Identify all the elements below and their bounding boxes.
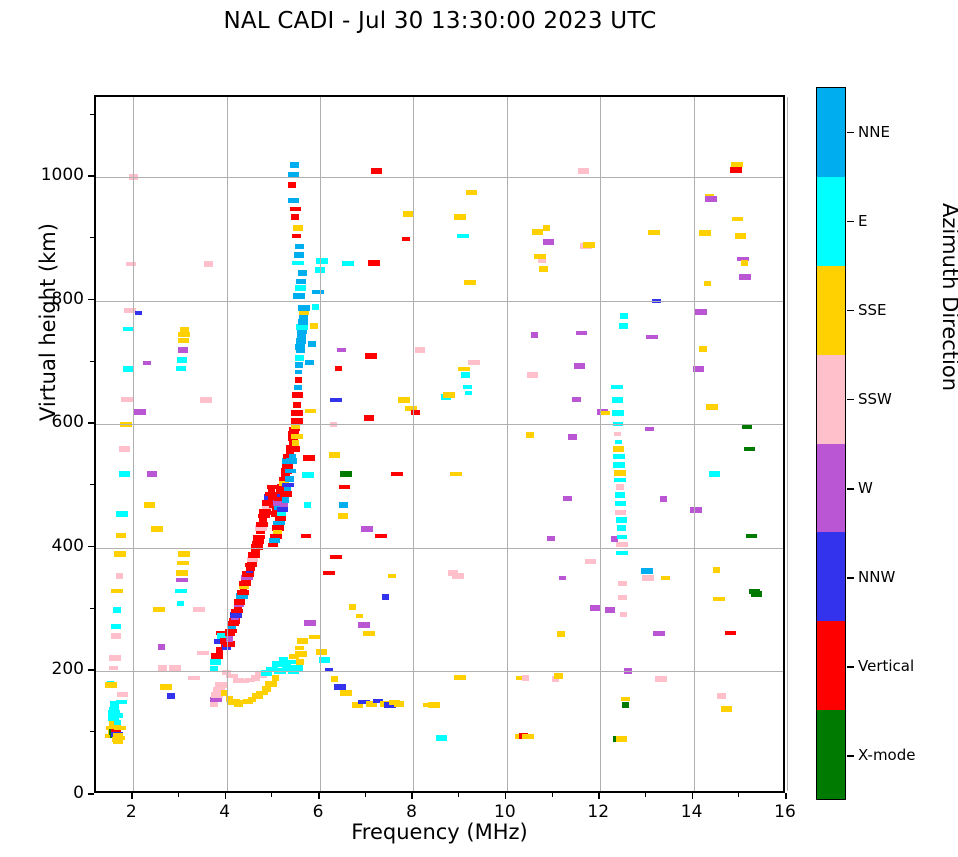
colorbar-tick [847,577,854,579]
echo-point [375,534,387,538]
echo-point [751,591,762,597]
echo-point [292,392,303,398]
echo-point [463,385,472,389]
echo-point [323,571,335,575]
echo-point [452,573,464,579]
colorbar-label-nne: NNE [858,123,890,141]
echo-point [210,659,221,665]
echo-point [288,446,300,452]
echo-point [695,309,707,315]
echo-point [188,676,200,680]
echo-point [356,614,363,618]
x-tick-minor [552,793,553,797]
echo-point [391,472,403,476]
echo-point [305,360,314,365]
colorbar-tick [847,755,854,757]
echo-point [105,682,117,688]
echo-point [568,434,577,440]
x-tick [505,793,507,799]
echo-point [717,693,726,699]
echo-point [522,675,529,681]
echo-point [109,666,118,670]
x-tick [785,793,787,799]
echo-point [109,655,121,661]
echo-point [531,332,538,338]
echo-point [642,575,654,581]
echo-point [296,279,306,284]
echo-point [298,305,310,311]
echo-point [653,631,665,636]
echo-point [339,502,348,508]
echo-point [292,261,304,265]
echo-point [559,576,566,580]
gridline-horizontal [96,671,783,672]
gridline-vertical [507,97,508,791]
echo-point [616,517,627,523]
echo-point [302,472,314,478]
colorbar-tick [847,221,854,223]
echo-point [394,701,404,707]
echo-point [116,573,123,579]
echo-point [268,543,278,547]
x-tick [692,793,694,799]
echo-point [266,667,278,671]
echo-point [415,347,425,353]
echo-point [620,313,628,319]
x-tick-label: 6 [304,802,332,822]
echo-point [648,230,660,235]
echo-point [340,690,352,696]
echo-point [468,360,480,365]
echo-point [210,666,218,671]
echo-point [296,659,304,665]
y-tick [88,422,94,424]
echo-point [620,612,627,617]
echo-point [295,355,304,361]
colorbar-label-sse: SSE [858,301,887,319]
echo-point [280,503,288,507]
echo-point [215,682,227,688]
echo-point [613,462,625,468]
echo-point [117,692,128,697]
x-tick [598,793,600,799]
gridline-horizontal [96,177,783,178]
echo-point [464,280,476,285]
echo-point [721,706,732,712]
echo-point [443,392,455,398]
echo-point [285,469,296,473]
echo-point [275,516,286,521]
echo-point [116,511,128,517]
echo-point [368,260,380,266]
colorbar [816,87,846,800]
echo-point [297,638,308,644]
echo-point [293,402,301,408]
echo-point [578,168,589,174]
echo-point [295,651,307,657]
echo-point [613,454,625,459]
y-tick [88,793,94,795]
echo-point [713,567,720,573]
echo-point [177,561,189,565]
echo-point [661,576,670,580]
echo-point [615,501,626,506]
echo-point [616,484,624,490]
echo-point [585,559,596,564]
echo-point [527,372,538,378]
echo-point [337,348,346,352]
echo-point [617,535,627,539]
echo-point [211,653,223,659]
echo-point [288,198,299,203]
echo-point [615,510,626,515]
echo-point [618,595,627,600]
echo-point [295,285,306,291]
echo-point [111,589,123,593]
x-tick-label: 14 [678,802,706,822]
echo-point [646,335,658,339]
echo-point [340,471,352,477]
echo-point [557,631,565,637]
echo-point [428,702,440,708]
echo-point [605,607,615,613]
echo-point [290,207,301,211]
gridline-vertical [413,97,414,791]
echo-point [114,726,126,730]
echo-point [116,700,127,704]
echo-point [304,502,311,508]
echo-point [361,526,373,532]
echo-point [334,684,346,690]
echo-point [119,446,130,452]
echo-point [739,274,751,280]
echo-point [280,491,292,497]
echo-point [732,217,743,221]
echo-point [299,311,309,315]
echo-point [611,385,623,389]
echo-point [543,239,554,245]
echo-point [382,594,389,600]
colorbar-tick [847,132,854,134]
echo-point [699,346,707,352]
colorbar-segment-e [817,177,845,266]
gridline-vertical [787,97,788,791]
echo-point [614,478,626,482]
echo-point [543,225,550,231]
colorbar-tick [847,488,854,490]
y-tick-label: 800 [38,289,84,309]
echo-point [295,370,302,374]
echo-point [293,293,305,299]
y-tick-label: 0 [38,783,84,803]
echo-point [316,258,328,264]
echo-point [454,675,466,680]
echo-point [180,327,189,333]
gridline-vertical [227,97,228,791]
echo-point [295,244,304,249]
echo-point [532,229,543,235]
y-tick-minor [90,237,94,238]
colorbar-tick [847,666,854,668]
echo-point [158,665,167,671]
echo-point [547,536,555,541]
colorbar-label-x-mode: X-mode [858,746,915,764]
echo-point [574,363,585,369]
echo-point [690,507,702,513]
x-tick-label: 10 [491,802,519,822]
colorbar-tick [847,399,854,401]
echo-point [735,233,746,239]
echo-point [614,432,621,436]
colorbar-segment-vertical [817,621,845,710]
echo-point [699,230,711,236]
echo-point [705,196,717,202]
echo-point [612,410,624,416]
echo-point [335,366,342,371]
echo-point [312,304,319,310]
echo-point [176,570,188,576]
scatter-canvas [96,97,783,791]
echo-point [285,476,294,482]
echo-point [111,633,121,639]
y-tick [88,175,94,177]
echo-point [709,471,720,477]
echo-point [563,496,572,501]
echo-point [713,597,725,601]
echo-point [290,162,299,168]
echo-point [295,646,304,650]
echo-point [256,522,268,527]
echo-point [296,349,305,353]
echo-point [365,353,377,359]
echo-point [297,330,307,334]
y-tick [88,546,94,548]
echo-point [539,266,548,272]
x-tick-minor [178,793,179,797]
figure-title: NAL CADI - Jul 30 13:30:00 2023 UTC [0,8,880,34]
colorbar-segment-w [817,444,845,533]
x-tick-label: 4 [211,802,239,822]
echo-point [298,270,307,276]
y-tick-minor [90,361,94,362]
echo-point [618,581,627,586]
colorbar-segment-nnw [817,532,845,621]
echo-point [160,684,172,690]
echo-point [299,315,308,321]
x-tick-minor [458,793,459,797]
echo-point [303,455,315,461]
echo-point [111,624,121,629]
echo-point [305,409,316,413]
echo-point [617,525,626,531]
echo-point [286,458,297,464]
colorbar-label-vertical: Vertical [858,657,914,675]
colorbar-segment-x-mode [817,710,845,799]
echo-point [704,281,711,286]
echo-point [616,736,627,742]
echo-point [259,518,267,522]
echo-point [615,440,622,444]
x-tick [318,793,320,799]
colorbar-label-w: W [858,479,873,497]
echo-point [349,604,356,610]
echo-point [297,334,306,340]
echo-point [114,720,121,725]
echo-point [301,534,311,538]
echo-point [331,676,338,682]
x-tick [411,793,413,799]
echo-point [295,344,305,350]
echo-point [612,397,623,403]
echo-point [295,377,302,383]
gridline-horizontal [96,301,783,302]
x-tick-label: 2 [117,802,145,822]
x-tick-minor [365,793,366,797]
echo-point [308,341,316,347]
echo-point [725,631,736,635]
echo-point [744,447,755,451]
y-tick-minor [90,731,94,732]
echo-point [312,290,324,294]
x-tick-label: 8 [397,802,425,822]
colorbar-segment-ssw [817,355,845,444]
echo-point [158,644,165,650]
echo-point [461,372,470,378]
echo-point [614,470,626,476]
echo-point [576,331,587,335]
echo-point [304,620,316,626]
echo-point [645,427,654,431]
echo-point [265,681,277,687]
echo-point [193,607,205,612]
echo-point [144,502,155,508]
echo-point [294,385,302,390]
echo-point [731,162,743,167]
echo-point [109,707,119,711]
echo-point [169,665,181,671]
echo-point [450,472,462,476]
echo-point [402,237,410,241]
echo-point [583,242,595,248]
echo-point [522,734,534,739]
colorbar-label-nnw: NNW [858,568,895,586]
echo-point [616,551,628,555]
echo-point [310,323,318,329]
echo-point [388,574,396,578]
echo-point [330,398,342,402]
echo-point [457,234,469,238]
echo-point [167,693,175,699]
echo-point [746,534,757,538]
echo-point [330,555,342,559]
echo-point [641,568,653,574]
echo-point [621,697,630,701]
gridline-horizontal [96,424,783,425]
echo-point [119,471,130,477]
echo-point [622,702,629,708]
echo-point [291,410,303,416]
x-tick-minor [271,793,272,797]
gridline-vertical [694,97,695,791]
x-axis-label: Frequency (MHz) [94,820,785,844]
echo-point [288,172,299,177]
echo-point [134,409,146,415]
gridline-vertical [320,97,321,791]
x-tick-minor [738,793,739,797]
echo-point [288,182,296,188]
echo-point [204,261,213,267]
echo-point [126,262,136,266]
echo-point [339,485,350,489]
echo-point [437,735,447,741]
echo-point [364,415,374,421]
echo-point [113,607,121,613]
echo-point [742,425,752,429]
echo-point [291,434,303,439]
echo-point [177,357,187,363]
echo-point [526,432,534,438]
echo-point [143,361,151,365]
echo-point [363,631,375,636]
echo-point [554,673,563,679]
echo-point [178,551,190,557]
echo-point [538,259,546,263]
echo-point [253,535,265,539]
echo-point [291,418,303,424]
echo-point [741,260,748,266]
echo-point [371,168,382,174]
echo-point [342,261,354,266]
y-tick-minor [90,484,94,485]
colorbar-tick [847,310,854,312]
echo-point [329,452,340,458]
echo-point [176,578,188,582]
echo-point [291,665,303,671]
plot-area [94,95,785,793]
echo-point [292,440,299,446]
echo-point [613,446,624,452]
gridline-vertical [600,97,601,791]
colorbar-segment-nne [817,88,845,177]
echo-point [616,542,628,547]
y-tick-label: 200 [38,659,84,679]
echo-point [177,601,184,606]
echo-point [338,513,348,519]
echo-point [272,675,279,681]
echo-point [600,411,610,415]
echo-point [176,366,186,371]
echo-point [572,397,581,402]
echo-point [114,736,125,740]
gridline-horizontal [96,548,783,549]
colorbar-label-e: E [858,212,867,230]
echo-point [197,651,209,655]
x-tick-label: 16 [771,802,799,822]
y-tick-label: 400 [38,536,84,556]
y-tick-minor [90,114,94,115]
x-tick [131,793,133,799]
y-tick [88,669,94,671]
colorbar-label-ssw: SSW [858,390,892,408]
x-tick-minor [645,793,646,797]
echo-point [295,362,303,368]
echo-point [293,225,303,231]
echo-point [123,366,133,372]
echo-point [178,347,188,353]
echo-point [655,676,667,682]
echo-point [116,533,126,538]
ionogram-figure: NAL CADI - Jul 30 13:30:00 2023 UTC Freq… [0,0,958,857]
